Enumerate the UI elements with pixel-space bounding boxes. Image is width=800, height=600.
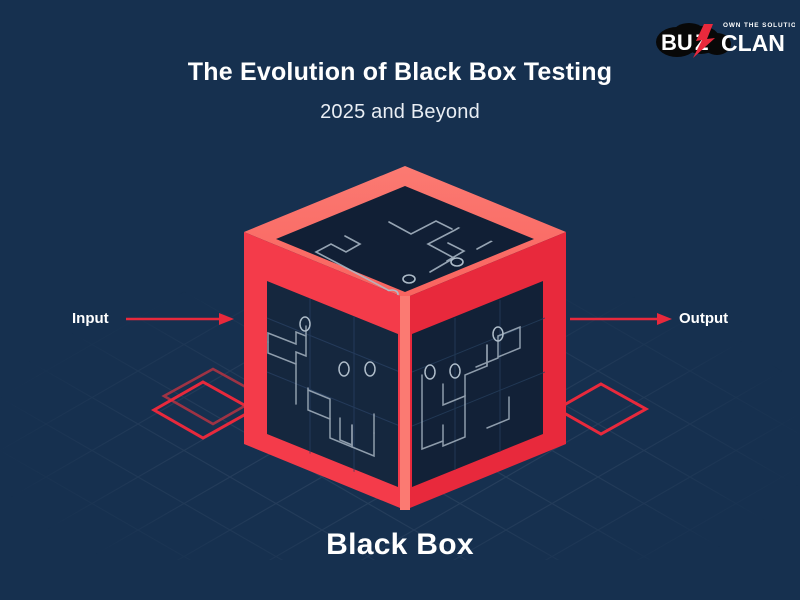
infographic-canvas: BU Z CLAN OWN THE SOLUTION The Evolution… — [0, 0, 800, 600]
logo-tagline: OWN THE SOLUTION — [723, 22, 795, 29]
page-title: The Evolution of Black Box Testing — [0, 58, 800, 87]
input-label: Input — [72, 310, 109, 327]
logo-word-buz: BU — [661, 30, 693, 55]
cube-front-edge-highlight — [400, 296, 410, 510]
page-subtitle: 2025 and Beyond — [0, 101, 800, 124]
logo-word-clan: CLAN — [721, 30, 785, 56]
black-box-cube — [0, 0, 800, 600]
buzzclan-logo[interactable]: BU Z CLAN OWN THE SOLUTION — [655, 12, 795, 64]
output-label: Output — [679, 310, 728, 327]
black-box-caption: Black Box — [0, 528, 800, 562]
